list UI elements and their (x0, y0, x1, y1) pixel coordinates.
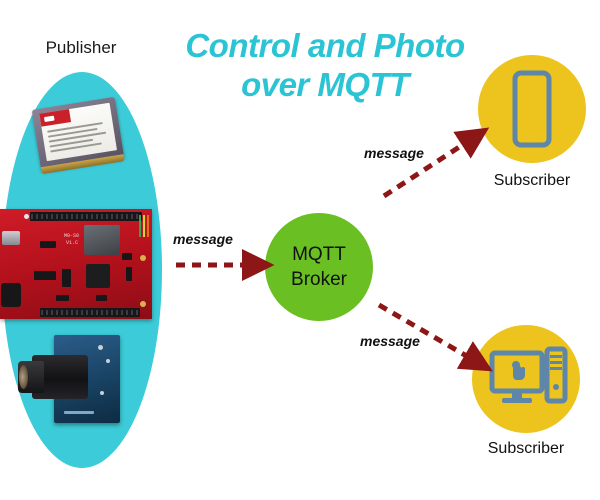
diagram-title: Control and Photo over MQTT (140, 26, 510, 104)
broker-line-1: MQTT (292, 242, 346, 267)
message-label-publisher-broker: message (173, 231, 233, 247)
message-label-broker-desktop: message (360, 333, 420, 349)
desktop-computer-icon (472, 325, 580, 433)
broker-line-2: Broker (291, 267, 347, 292)
dev-board-image: M0-S0 V1.C (0, 209, 152, 319)
arrow-broker-to-desktop (379, 305, 470, 358)
camera-module-image (18, 335, 126, 423)
mqtt-broker-node[interactable]: MQTT Broker (265, 213, 373, 321)
message-label-broker-phone: message (364, 145, 424, 161)
cellular-module-image (32, 97, 125, 171)
subscriber-phone-node[interactable] (478, 55, 586, 163)
smartphone-icon (478, 55, 586, 163)
subscriber-desktop-label: Subscriber (456, 440, 596, 458)
publisher-label: Publisher (22, 38, 140, 58)
mqtt-diagram: Control and Photo over MQTT Publisher M0… (0, 0, 600, 500)
subscriber-desktop-node[interactable] (472, 325, 580, 433)
subscriber-phone-label: Subscriber (462, 172, 600, 190)
